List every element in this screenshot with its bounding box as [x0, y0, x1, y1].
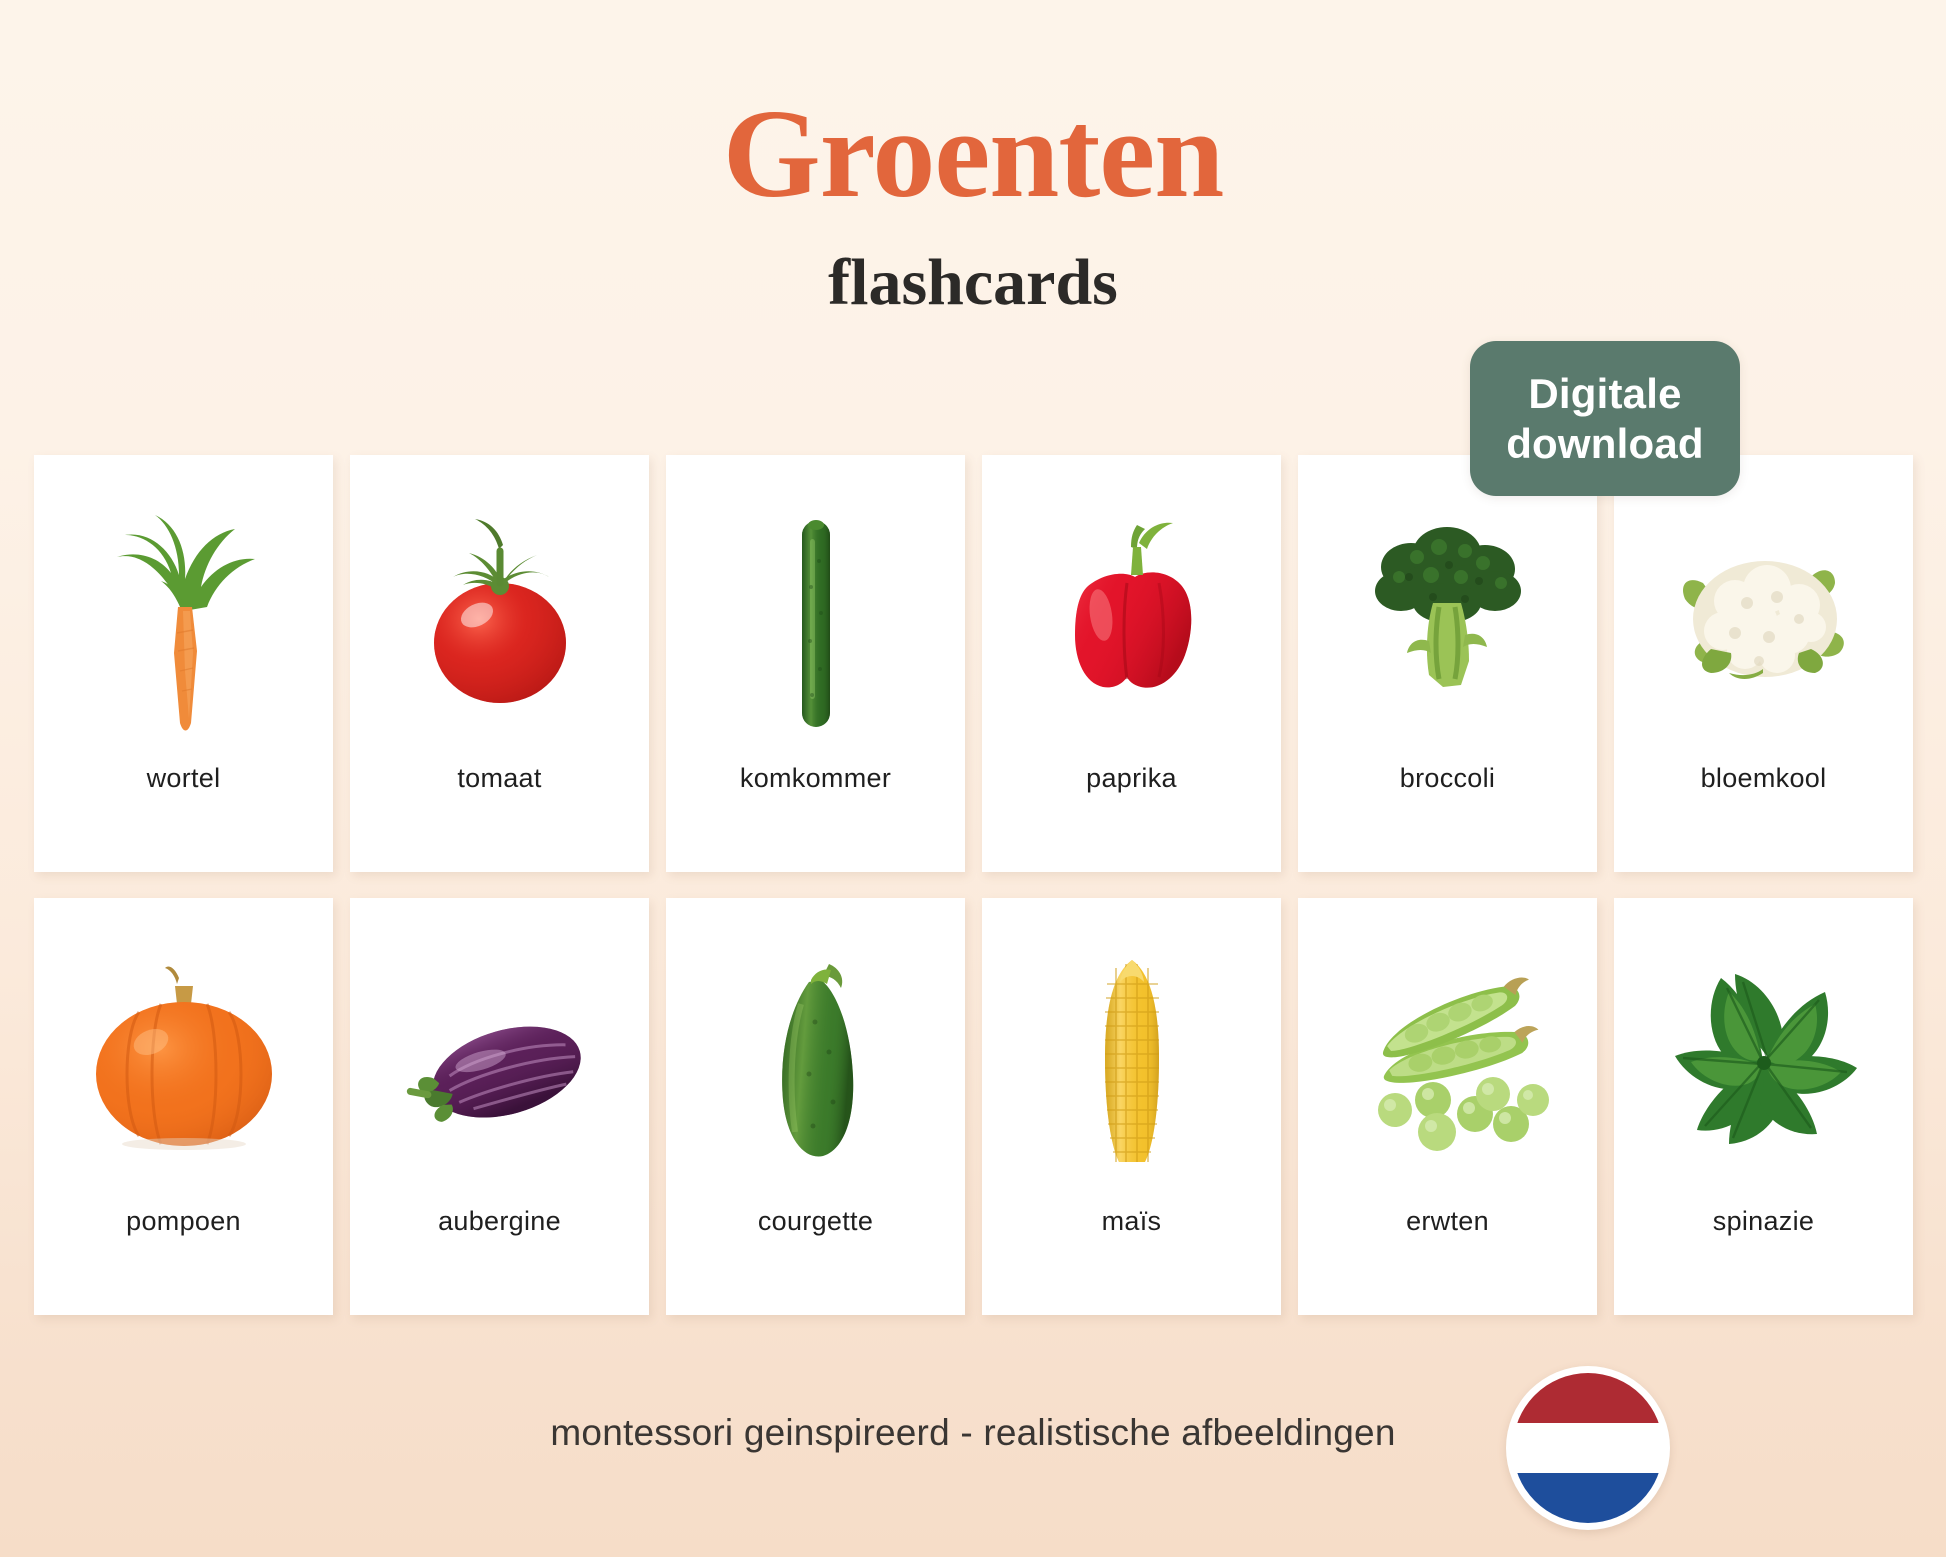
badge-line-2: download	[1506, 419, 1704, 469]
flashcard-paprika[interactable]: paprika	[982, 455, 1281, 872]
peas-icon	[1298, 898, 1597, 1206]
flashcard-tomaat[interactable]: tomaat	[350, 455, 649, 872]
flag-stripe-blue	[1513, 1473, 1663, 1523]
flashcard-courgette[interactable]: courgette	[666, 898, 965, 1315]
flashcard-label: spinazie	[1614, 1206, 1913, 1315]
flashcard-label: komkommer	[666, 763, 965, 872]
cucumber-icon	[666, 455, 965, 763]
digital-download-badge: Digitale download	[1470, 341, 1740, 496]
page-header: Groenten flashcards	[0, 0, 1946, 316]
flashcard-label: pompoen	[34, 1206, 333, 1315]
flashcard-label: bloemkool	[1614, 763, 1913, 872]
flashcard-spinazie[interactable]: spinazie	[1614, 898, 1913, 1315]
flashcard-label: courgette	[666, 1206, 965, 1315]
broccoli-icon	[1298, 455, 1597, 763]
flashcard-aubergine[interactable]: aubergine	[350, 898, 649, 1315]
page-subtitle: flashcards	[0, 250, 1946, 316]
flashcard-label: maïs	[982, 1206, 1281, 1315]
flashcard-erwten[interactable]: erwten	[1298, 898, 1597, 1315]
netherlands-flag-icon	[1506, 1366, 1670, 1530]
flashcard-wortel[interactable]: wortel	[34, 455, 333, 872]
flashcard-label: wortel	[34, 763, 333, 872]
tomato-icon	[350, 455, 649, 763]
flashcard-label: tomaat	[350, 763, 649, 872]
flashcard-broccoli[interactable]: broccoli	[1298, 455, 1597, 872]
flashcard-label: paprika	[982, 763, 1281, 872]
bell-pepper-icon	[982, 455, 1281, 763]
flashcard-label: erwten	[1298, 1206, 1597, 1315]
cauliflower-icon	[1614, 455, 1913, 763]
flashcard-komkommer[interactable]: komkommer	[666, 455, 965, 872]
badge-line-1: Digitale	[1528, 369, 1681, 419]
flashcard-label: aubergine	[350, 1206, 649, 1315]
eggplant-icon	[350, 898, 649, 1206]
pumpkin-icon	[34, 898, 333, 1206]
flag-stripes	[1513, 1373, 1663, 1523]
flag-stripe-white	[1513, 1423, 1663, 1473]
flashcard-pompoen[interactable]: pompoen	[34, 898, 333, 1315]
page-title: Groenten	[0, 92, 1946, 218]
zucchini-icon	[666, 898, 965, 1206]
flashcard-bloemkool[interactable]: bloemkool	[1614, 455, 1913, 872]
carrot-icon	[34, 455, 333, 763]
flashcard-mais[interactable]: maïs	[982, 898, 1281, 1315]
flashcard-grid: wortel	[34, 455, 1912, 1315]
corn-icon	[982, 898, 1281, 1206]
spinach-icon	[1614, 898, 1913, 1206]
flashcard-label: broccoli	[1298, 763, 1597, 872]
flag-stripe-red	[1513, 1373, 1663, 1423]
